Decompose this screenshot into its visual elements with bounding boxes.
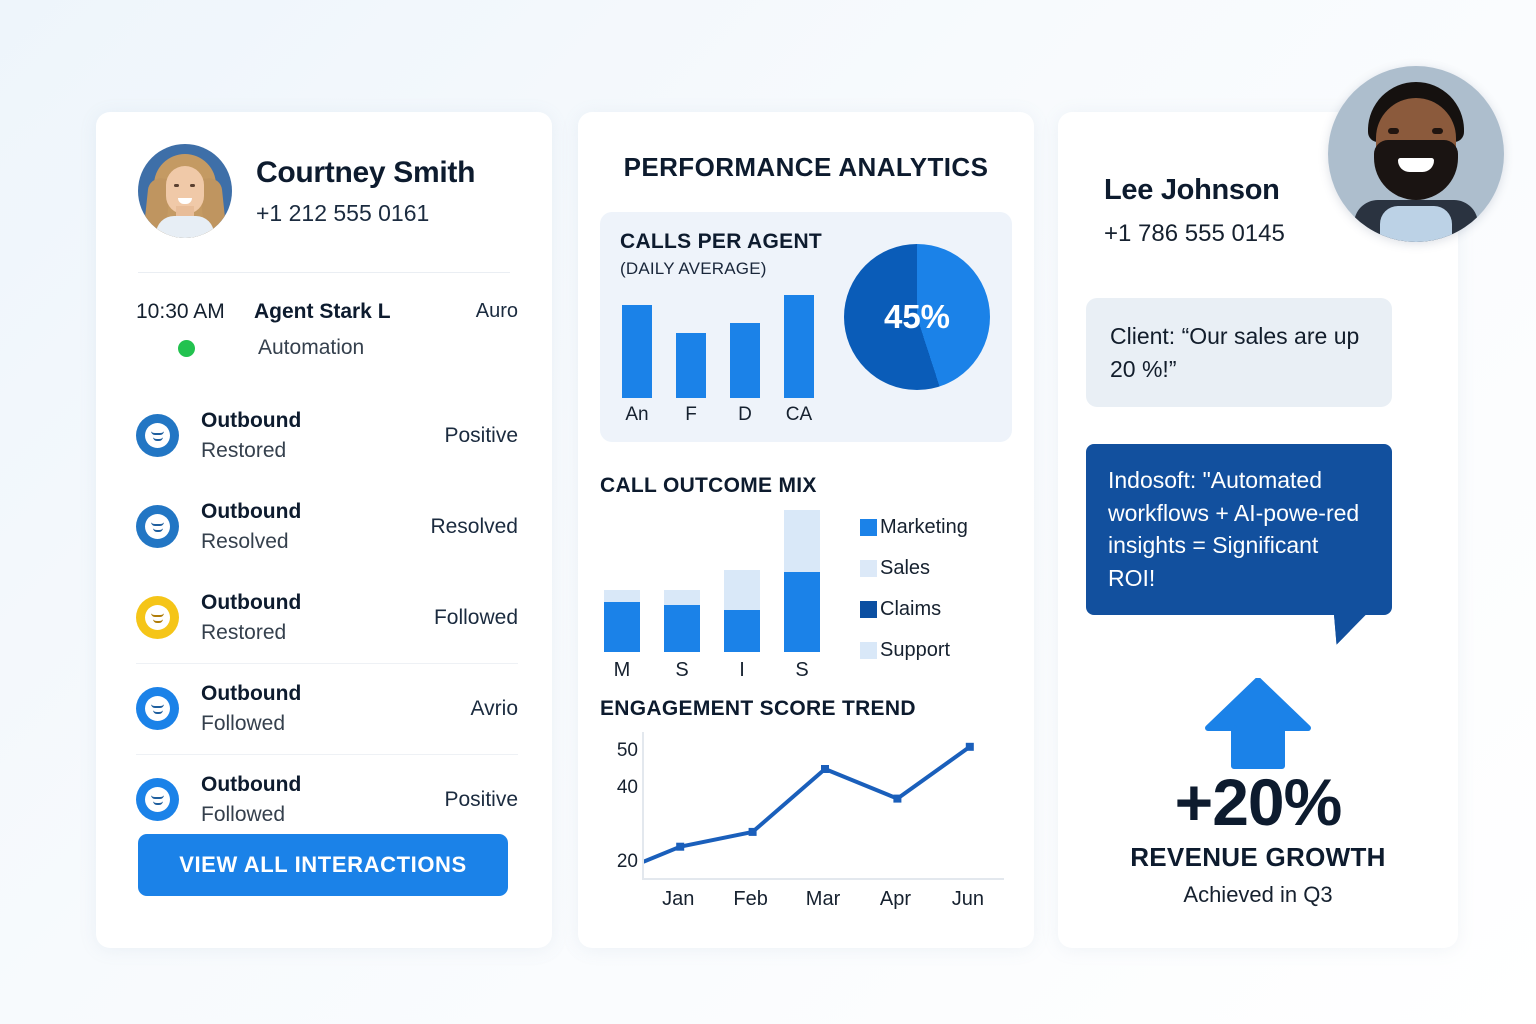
list-item-subtitle: Restored <box>201 621 434 645</box>
legend-label: Marketing <box>880 516 968 539</box>
stacked-bar-label: M <box>604 659 640 682</box>
legend-swatch <box>860 519 877 536</box>
x-axis-tick: Jan <box>642 888 714 911</box>
bar-label: An <box>622 404 652 426</box>
call-outcome-mix-legend: MarketingSalesClaimsSupport <box>860 516 1010 680</box>
bar <box>676 333 706 398</box>
stacked-bar-segment <box>664 590 700 605</box>
list-item-subtitle: Followed <box>201 712 471 736</box>
legend-item: Sales <box>860 557 1010 580</box>
list-item[interactable]: OutboundRestoredPositive <box>136 390 518 481</box>
stacked-bar <box>664 590 700 653</box>
list-item-subtitle: Restored <box>201 439 444 463</box>
list-item-title: Outbound <box>201 591 434 615</box>
arrow-up-icon <box>1204 678 1312 775</box>
performance-analytics-card: PERFORMANCE ANALYTICS CALLS PER AGENT (D… <box>578 112 1034 948</box>
contact-profile-header: Courtney Smith +1 212 555 0161 <box>138 144 475 238</box>
lee-johnson-avatar <box>1328 66 1504 242</box>
stacked-bar-segment <box>724 570 760 610</box>
data-point <box>676 843 684 851</box>
stacked-bar-label: S <box>664 659 700 682</box>
contact-interactions-card: Courtney Smith +1 212 555 0161 10:30 AM … <box>96 112 552 948</box>
revenue-growth-value: +20% <box>1058 764 1458 840</box>
interaction-list: OutboundRestoredPositiveOutboundResolved… <box>136 390 518 845</box>
stacked-bar-segment <box>664 605 700 653</box>
calls-share-pie-chart: 45% <box>844 244 990 390</box>
y-axis-tick: 40 <box>617 777 638 799</box>
legend-item: Support <box>860 639 1010 662</box>
list-item-meta: Resolved <box>430 515 518 539</box>
outbound-call-icon <box>136 778 179 821</box>
client-testimonial-card: Lee Johnson +1 786 555 0145 Client: “Our… <box>1058 112 1458 948</box>
data-point <box>749 828 757 836</box>
stacked-bar <box>604 590 640 653</box>
bar-label: CA <box>784 404 814 426</box>
stacked-bar <box>724 570 760 653</box>
legend-swatch <box>860 560 877 577</box>
client-name: Lee Johnson <box>1104 174 1280 207</box>
list-item-meta: Followed <box>434 606 518 630</box>
data-point <box>966 743 974 751</box>
outbound-call-icon <box>136 596 179 639</box>
list-item-meta: Avrio <box>471 697 518 721</box>
revenue-growth-sub: Achieved in Q3 <box>1058 882 1458 908</box>
list-item-title: Outbound <box>201 500 430 524</box>
bar <box>784 295 814 398</box>
legend-label: Claims <box>880 598 941 621</box>
legend-label: Support <box>880 639 950 662</box>
stacked-bar-label: I <box>724 659 760 682</box>
calls-per-agent-tile: CALLS PER AGENT (DAILY AVERAGE) AnFDCA 4… <box>600 212 1012 442</box>
list-item[interactable]: OutboundResolvedResolved <box>136 481 518 572</box>
stacked-bar-segment <box>724 610 760 653</box>
x-axis-tick: Feb <box>714 888 786 911</box>
data-point <box>821 765 829 773</box>
list-item-title: Outbound <box>201 409 444 433</box>
list-item-subtitle: Followed <box>201 803 444 827</box>
outbound-call-icon <box>136 505 179 548</box>
bar-label: D <box>730 404 760 426</box>
list-item-meta: Positive <box>444 788 518 812</box>
stacked-bar-segment <box>604 590 640 603</box>
stacked-bar <box>784 510 820 653</box>
bar-label: F <box>676 404 706 426</box>
stacked-bar-label: S <box>784 659 820 682</box>
call-outcome-mix-chart: MSIS <box>604 512 834 682</box>
stacked-bar-segment <box>604 602 640 652</box>
contact-name: Courtney Smith <box>256 156 475 190</box>
view-all-interactions-button[interactable]: VIEW ALL INTERACTIONS <box>138 834 508 896</box>
calls-per-agent-subheading: (DAILY AVERAGE) <box>620 259 767 279</box>
x-axis-tick: Mar <box>787 888 859 911</box>
stacked-bar-segment <box>784 510 820 573</box>
status-online-icon <box>178 340 195 357</box>
dashboard-stage: Courtney Smith +1 212 555 0161 10:30 AM … <box>0 0 1536 1024</box>
calls-per-agent-heading: CALLS PER AGENT <box>620 230 822 254</box>
list-item-title: Outbound <box>201 773 444 797</box>
stacked-bar-segment <box>784 572 820 652</box>
engagement-score-trend-chart: 504020 JanFebMarAprJun <box>594 732 1014 922</box>
list-item[interactable]: OutboundFollowedPositive <box>136 754 518 845</box>
pie-value-label: 45% <box>844 244 990 390</box>
data-point <box>893 795 901 803</box>
client-quote-bubble: Client: “Our sales are up 20 %!” <box>1086 298 1392 407</box>
vendor-quote-bubble: Indosoft: "Automated workflows + AI-powe… <box>1086 444 1392 615</box>
bar <box>730 323 760 398</box>
list-item-meta: Positive <box>444 424 518 448</box>
entry-time: 10:30 AM <box>136 300 254 324</box>
list-item[interactable]: OutboundRestoredFollowed <box>136 572 518 663</box>
calls-per-agent-bar-chart: AnFDCA <box>622 286 832 426</box>
entry-subtitle: Automation <box>258 336 364 360</box>
bar <box>622 305 652 398</box>
entry-agent-name: Agent Stark L <box>254 300 476 324</box>
revenue-growth-label: REVENUE GROWTH <box>1058 842 1458 873</box>
legend-swatch <box>860 642 877 659</box>
engagement-score-trend-title: ENGAGEMENT SCORE TREND <box>600 697 916 721</box>
call-outcome-mix-title: CALL OUTCOME MIX <box>600 474 817 498</box>
page-title: PERFORMANCE ANALYTICS <box>578 152 1034 183</box>
legend-swatch <box>860 601 877 618</box>
y-axis-tick: 50 <box>617 740 638 762</box>
y-axis-tick: 20 <box>617 851 638 873</box>
courtney-smith-avatar <box>138 144 232 238</box>
outbound-call-icon <box>136 687 179 730</box>
client-phone: +1 786 555 0145 <box>1104 220 1285 248</box>
x-axis-tick: Apr <box>859 888 931 911</box>
list-item-subtitle: Resolved <box>201 530 430 554</box>
entry-tag: Auro <box>476 300 518 323</box>
header-divider <box>138 272 510 273</box>
trend-line <box>644 732 1006 880</box>
outbound-call-icon <box>136 414 179 457</box>
contact-phone: +1 212 555 0161 <box>256 200 475 227</box>
legend-item: Claims <box>860 598 1010 621</box>
list-item-title: Outbound <box>201 682 471 706</box>
list-item[interactable]: OutboundFollowedAvrio <box>136 663 518 754</box>
first-interaction-entry[interactable]: 10:30 AM Agent Stark L Auro Automation <box>136 300 518 360</box>
legend-label: Sales <box>880 557 930 580</box>
legend-item: Marketing <box>860 516 1010 539</box>
x-axis-tick: Jun <box>932 888 1004 911</box>
